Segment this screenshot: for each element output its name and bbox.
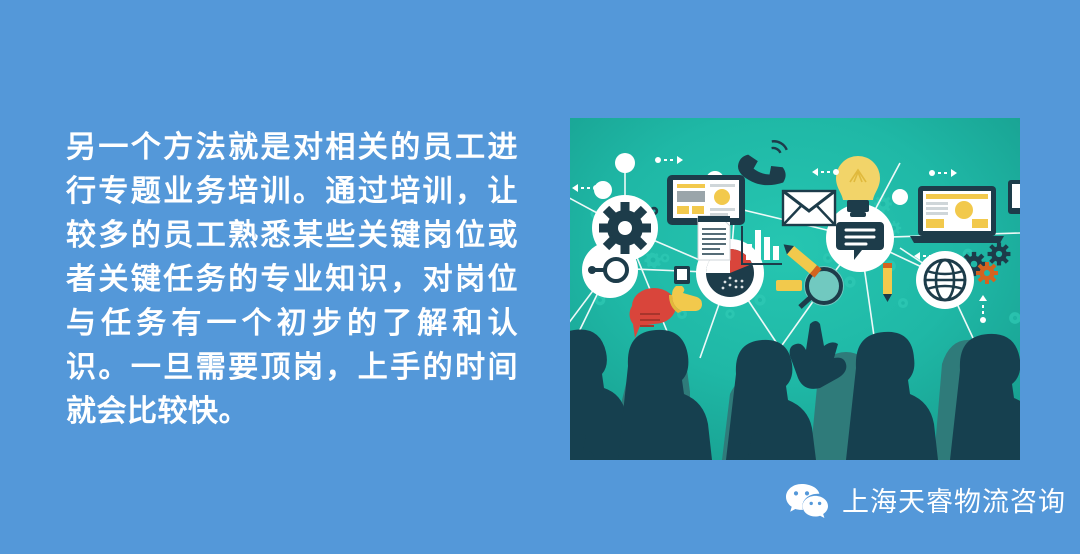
- network-infographic: [570, 118, 1020, 460]
- envelope-icon: [783, 191, 835, 225]
- wechat-account-badge[interactable]: 上海天睿物流咨询: [784, 482, 1066, 522]
- wechat-icon: [784, 482, 830, 522]
- slide-canvas: 另一个方法就是对相关的员工进行专题业务培训。通过培训，让较多的员工熟悉某些关键岗…: [0, 0, 1080, 554]
- gear-icon: [599, 202, 651, 254]
- wechat-account-name: 上海天睿物流咨询: [842, 489, 1066, 516]
- document-icon: [698, 216, 730, 260]
- laptop-icon: [910, 186, 1004, 243]
- illustration-panel: [570, 118, 1020, 460]
- pencil-small-icon: [883, 263, 892, 302]
- monitor-edge-icon: [1008, 180, 1020, 214]
- body-paragraph: 另一个方法就是对相关的员工进行专题业务培训。通过培训，让较多的员工熟悉某些关键岗…: [66, 126, 518, 434]
